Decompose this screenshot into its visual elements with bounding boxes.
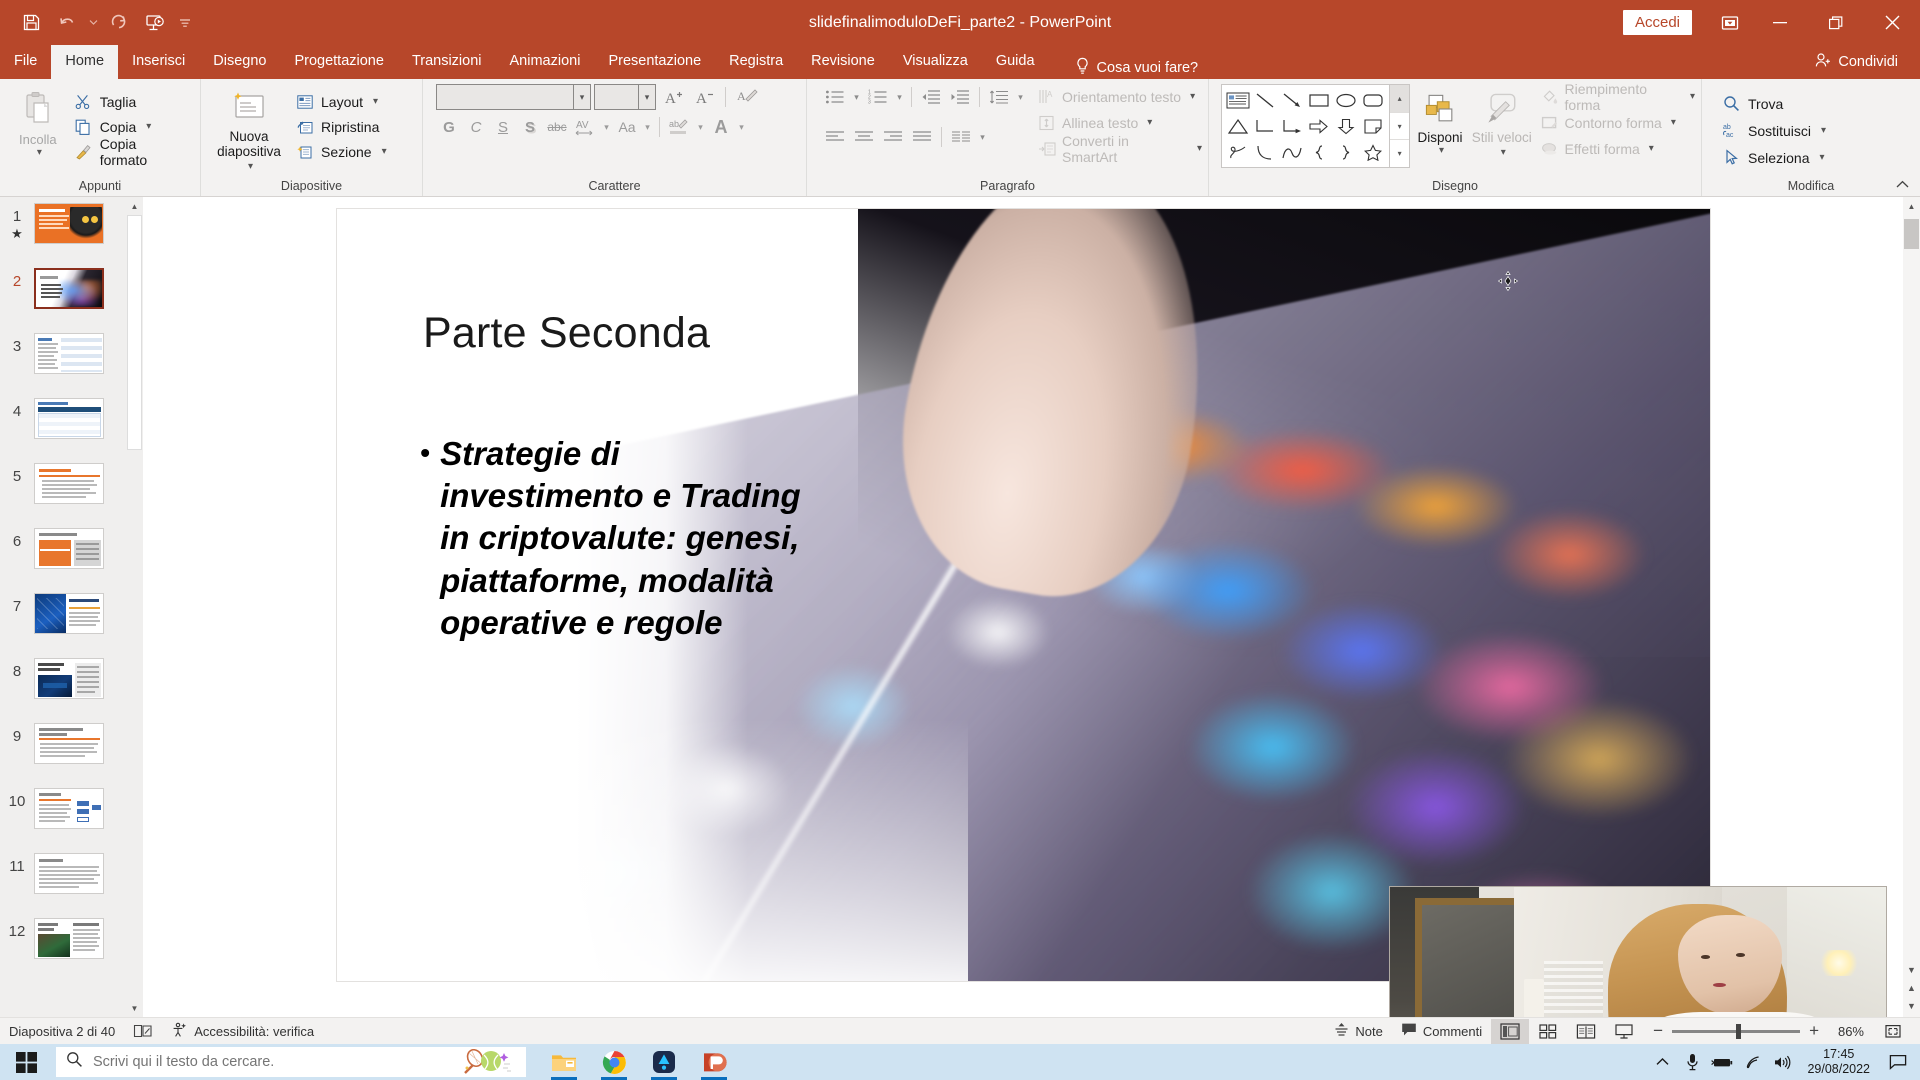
- thumbnail-scrollbar[interactable]: ▲ ▼: [126, 197, 143, 1017]
- reset-button[interactable]: Ripristina: [291, 114, 394, 139]
- align-center-button[interactable]: [850, 124, 878, 150]
- ribbon-group-drawing: ▴ ▾ ▾ Disponi ▾ Stili veloc: [1208, 79, 1701, 196]
- shape-star-icon[interactable]: [1360, 139, 1387, 165]
- thumbnail-slide-6[interactable]: 6: [0, 528, 143, 593]
- ribbon-display-options-icon[interactable]: [1708, 6, 1752, 40]
- sign-in-button[interactable]: Accedi: [1623, 10, 1692, 35]
- shape-oval-icon[interactable]: [1333, 87, 1360, 113]
- thumbnail-list: 1 ★ 2: [0, 203, 143, 983]
- thumbnail-slide-9[interactable]: 9: [0, 723, 143, 788]
- section-label: Sezione: [321, 144, 372, 160]
- volume-icon[interactable]: [1767, 1044, 1797, 1080]
- layout-dropdown-icon[interactable]: ▾: [373, 96, 378, 107]
- tab-revisione[interactable]: Revisione: [797, 45, 889, 79]
- italic-button[interactable]: C: [463, 114, 489, 140]
- thumbnail-image-3: [34, 333, 104, 374]
- svg-text:ac: ac: [1726, 132, 1734, 139]
- replace-icon: abac: [1722, 121, 1741, 140]
- share-button[interactable]: Condividi: [1815, 45, 1920, 79]
- paste-dropdown-icon[interactable]: ▾: [37, 147, 42, 158]
- underline-button[interactable]: S: [490, 114, 516, 140]
- align-right-button[interactable]: [879, 124, 907, 150]
- clock-time: 17:45: [1807, 1047, 1870, 1062]
- thumbnail-number-5: 5: [0, 463, 34, 485]
- columns-dropdown-icon[interactable]: ▾: [976, 124, 989, 150]
- slide-thumbnail-pane[interactable]: 1 ★ 2: [0, 197, 143, 1017]
- replace-dropdown-icon[interactable]: ▾: [1821, 125, 1826, 136]
- align-text-icon: [1037, 113, 1056, 132]
- tell-me-box[interactable]: Cosa vuoi fare?: [1049, 57, 1199, 79]
- thumbnail-slide-5[interactable]: 5: [0, 463, 143, 528]
- text-shadow-button[interactable]: S: [517, 114, 543, 140]
- font-name-input[interactable]: ▾: [436, 84, 591, 110]
- windows-taskbar: 17:45 29/08/2022: [0, 1044, 1920, 1080]
- find-button[interactable]: Trova: [1716, 90, 1832, 117]
- shape-arc-icon[interactable]: [1251, 139, 1278, 165]
- arrange-label: Disponi: [1417, 130, 1462, 145]
- increase-indent-button[interactable]: [946, 84, 974, 110]
- bullets-button[interactable]: [821, 84, 849, 110]
- thumbnail-number-12: 12: [0, 918, 34, 940]
- thumbnail-image-6: [34, 528, 104, 569]
- start-presentation-icon[interactable]: [138, 6, 172, 40]
- zoom-level-label[interactable]: 86%: [1828, 1024, 1864, 1039]
- tab-file[interactable]: File: [0, 45, 51, 79]
- file-explorer-icon[interactable]: [542, 1044, 586, 1080]
- bullets-dropdown-icon[interactable]: ▾: [850, 84, 863, 110]
- decrease-font-size-button[interactable]: A: [690, 84, 718, 110]
- accessibility-icon: [171, 1022, 188, 1041]
- slide-scroll-up-icon[interactable]: ▲: [1903, 197, 1920, 215]
- show-hidden-icons-icon[interactable]: [1647, 1044, 1677, 1080]
- smartart-label: Converti in SmartArt: [1062, 133, 1188, 165]
- scissors-icon: [74, 92, 93, 111]
- thumbnail-image-4: [34, 398, 104, 439]
- ribbon-group-font: ▾ ▾ A A A: [422, 79, 806, 196]
- copy-icon: [74, 117, 93, 136]
- new-slide-button[interactable]: Nuova diapositiva ▾: [207, 84, 291, 174]
- taskbar-clock[interactable]: 17:45 29/08/2022: [1797, 1047, 1880, 1077]
- arrange-dropdown-icon[interactable]: ▾: [1439, 145, 1444, 156]
- svg-text:A: A: [696, 91, 707, 107]
- numbering-button[interactable]: 123: [864, 84, 892, 110]
- language-icon[interactable]: [124, 1018, 162, 1045]
- thumbnail-scroll-handle[interactable]: [127, 215, 142, 450]
- slide-sorter-view-button[interactable]: [1529, 1019, 1567, 1044]
- bold-button[interactable]: G: [436, 114, 462, 140]
- replace-label: Sostituisci: [1748, 123, 1811, 139]
- columns-button[interactable]: [947, 124, 975, 150]
- current-slide[interactable]: Parte Seconda • Strategie di investiment…: [337, 209, 1710, 981]
- action-center-icon[interactable]: [1880, 1044, 1916, 1080]
- undo-icon[interactable]: [50, 6, 84, 40]
- undo-dropdown-icon[interactable]: [86, 6, 100, 40]
- character-spacing-dropdown-icon[interactable]: ▾: [600, 114, 613, 140]
- thumbnail-slide-11[interactable]: 11: [0, 853, 143, 918]
- svg-text:A: A: [737, 89, 746, 103]
- thumbnail-image-12: [34, 918, 104, 959]
- cut-label: Taglia: [100, 94, 137, 110]
- line-spacing-dropdown-icon[interactable]: ▾: [1014, 84, 1027, 110]
- font-group-label: Carattere: [423, 177, 806, 196]
- drawing-group-label: Disegno: [1209, 177, 1701, 196]
- title-bar: slidefinalimoduloDeFi_parte2 - PowerPoin…: [0, 0, 1920, 45]
- shape-scribble-icon[interactable]: [1224, 139, 1251, 165]
- shape-line-icon[interactable]: [1251, 87, 1278, 113]
- format-painter-button[interactable]: Copia formato: [70, 139, 194, 164]
- shape-effects-icon: [1540, 139, 1559, 158]
- svg-text:AV: AV: [576, 120, 589, 131]
- thumbnail-slide-7[interactable]: 7: [0, 593, 143, 658]
- layout-label: Layout: [321, 94, 363, 110]
- ribbon-group-editing: Trova abac Sostituisci ▾ Seleziona: [1701, 79, 1920, 196]
- battery-icon[interactable]: [1707, 1044, 1737, 1080]
- layout-icon: [295, 92, 314, 111]
- start-button[interactable]: [0, 1044, 52, 1080]
- quick-styles-icon: [1482, 88, 1522, 130]
- text-direction-label: Orientamento testo: [1062, 89, 1181, 105]
- tab-progettazione[interactable]: Progettazione: [280, 45, 397, 79]
- thumbnail-slide-4[interactable]: 4: [0, 398, 143, 463]
- previous-slide-icon[interactable]: ▲: [1903, 979, 1920, 997]
- search-illustration-icon: [460, 1049, 518, 1080]
- powerpoint-window: slidefinalimoduloDeFi_parte2 - PowerPoin…: [0, 0, 1920, 1080]
- accessibility-label: Accessibilità: verifica: [194, 1024, 314, 1039]
- paste-icon: [18, 88, 58, 130]
- quick-styles-label: Stili veloci: [1472, 130, 1532, 145]
- shape-outline-icon: [1540, 113, 1559, 132]
- align-text-label: Allinea testo: [1062, 115, 1138, 131]
- thumbnail-image-7: [34, 593, 104, 634]
- select-label: Seleziona: [1748, 150, 1810, 166]
- shapes-gallery-more-icon[interactable]: ▾: [1390, 139, 1409, 167]
- increase-font-size-button[interactable]: A: [659, 84, 687, 110]
- bullet-marker: •: [420, 433, 430, 644]
- quick-styles-dropdown-icon[interactable]: ▾: [1501, 145, 1506, 160]
- section-button[interactable]: Sezione ▾: [291, 139, 394, 164]
- animation-star-icon: ★: [0, 225, 34, 242]
- comments-label: Commenti: [1423, 1024, 1482, 1039]
- search-icon: [1722, 94, 1741, 113]
- shape-fill-dropdown-icon[interactable]: ▾: [1690, 91, 1695, 102]
- tab-guida[interactable]: Guida: [982, 45, 1049, 79]
- arrange-button[interactable]: Disponi ▾: [1410, 84, 1470, 156]
- shapes-gallery-scroll[interactable]: ▴ ▾ ▾: [1389, 85, 1409, 167]
- slide-vertical-scrollbar[interactable]: ▲ ▼ ▲ ▼: [1903, 197, 1920, 1017]
- ribbon-group-slides: Nuova diapositiva ▾ Layout ▾: [200, 79, 422, 196]
- search-icon: [66, 1051, 83, 1073]
- select-button[interactable]: Seleziona ▾: [1716, 144, 1832, 171]
- thumbnail-number-8: 8: [0, 658, 34, 680]
- thumbnail-scroll-up-icon[interactable]: ▲: [126, 197, 143, 215]
- section-icon: [295, 142, 314, 161]
- microphone-icon[interactable]: [1677, 1044, 1707, 1080]
- customize-qat-icon[interactable]: [174, 6, 196, 40]
- reading-view-button[interactable]: [1567, 1019, 1605, 1044]
- thumbnail-image-2: [34, 268, 104, 309]
- shape-fill-label: Riempimento forma: [1565, 81, 1681, 113]
- close-button[interactable]: [1864, 0, 1920, 45]
- align-text-button[interactable]: Allinea testo ▾: [1037, 110, 1202, 135]
- title-bar-right: Accedi: [1623, 0, 1920, 45]
- shape-elbow-connector-icon[interactable]: [1251, 113, 1278, 139]
- fit-to-window-button[interactable]: [1874, 1019, 1912, 1044]
- restore-button[interactable]: [1808, 0, 1864, 45]
- font-color-dropdown-icon[interactable]: ▾: [735, 114, 748, 140]
- thumbnail-image-11: [34, 853, 104, 894]
- shape-down-arrow-icon[interactable]: [1333, 113, 1360, 139]
- svg-text:A: A: [665, 91, 676, 107]
- thumbnail-number-9: 9: [0, 723, 34, 745]
- justify-button[interactable]: [908, 124, 936, 150]
- format-painter-icon: [74, 142, 93, 161]
- shapes-scroll-down-icon[interactable]: ▾: [1390, 112, 1409, 140]
- thumbnail-slide-1[interactable]: 1 ★: [0, 203, 143, 268]
- layout-button[interactable]: Layout ▾: [291, 89, 394, 114]
- new-slide-label: Nuova diapositiva: [207, 129, 291, 159]
- change-case-dropdown-icon[interactable]: ▾: [641, 114, 654, 140]
- shape-rounded-rectangle-icon[interactable]: [1360, 87, 1387, 113]
- thumbnail-image-10: [34, 788, 104, 829]
- select-icon: [1722, 148, 1741, 167]
- format-painter-label: Copia formato: [100, 136, 187, 168]
- ribbon: Incolla ▾ Taglia Copia: [0, 79, 1920, 197]
- new-slide-icon: [229, 87, 269, 129]
- share-person-icon: [1815, 52, 1832, 72]
- wifi-icon[interactable]: [1737, 1044, 1767, 1080]
- copy-label: Copia: [100, 119, 137, 135]
- section-dropdown-icon[interactable]: ▾: [382, 146, 387, 157]
- next-slide-icon[interactable]: ▼: [1903, 997, 1920, 1015]
- shape-arrow-icon[interactable]: [1278, 87, 1305, 113]
- powerpoint-icon[interactable]: [692, 1044, 736, 1080]
- system-tray: 17:45 29/08/2022: [1647, 1044, 1920, 1080]
- paste-label: Incolla: [19, 132, 57, 147]
- save-icon[interactable]: [14, 6, 48, 40]
- redo-icon[interactable]: [102, 6, 136, 40]
- svg-text:A: A: [1047, 90, 1053, 99]
- thumbnail-image-5: [34, 463, 104, 504]
- align-text-dropdown-icon[interactable]: ▾: [1147, 117, 1152, 128]
- find-label: Trova: [1748, 96, 1783, 112]
- text-direction-icon: A: [1037, 87, 1056, 106]
- svg-text:ab: ab: [669, 119, 679, 129]
- paragraph-group-label: Paragrafo: [807, 177, 1208, 196]
- tab-inserisci[interactable]: Inserisci: [118, 45, 199, 79]
- shape-outline-button[interactable]: Contorno forma ▾: [1540, 110, 1695, 135]
- thumbnail-slide-10[interactable]: 10: [0, 788, 143, 853]
- shape-right-brace-icon[interactable]: [1333, 139, 1360, 165]
- cut-button[interactable]: Taglia: [70, 89, 194, 114]
- new-slide-dropdown-icon[interactable]: ▾: [248, 159, 253, 174]
- minimize-button[interactable]: [1752, 0, 1808, 45]
- thumbnail-image-9: [34, 723, 104, 764]
- tab-registra[interactable]: Registra: [715, 45, 797, 79]
- font-size-dropdown-icon[interactable]: ▾: [638, 85, 655, 109]
- collapse-ribbon-icon[interactable]: [1892, 175, 1912, 193]
- shape-outline-label: Contorno forma: [1565, 115, 1662, 131]
- thumbnail-number-6: 6: [0, 528, 34, 550]
- shape-curve-icon[interactable]: [1278, 139, 1305, 165]
- thumbnail-number-7: 7: [0, 593, 34, 615]
- reset-icon: [295, 117, 314, 136]
- zoom-in-button[interactable]: +: [1809, 1021, 1819, 1041]
- normal-view-button[interactable]: [1491, 1019, 1529, 1044]
- quick-styles-button[interactable]: Stili veloci ▾: [1470, 84, 1534, 160]
- smartart-dropdown-icon[interactable]: ▾: [1197, 143, 1202, 154]
- comment-icon: [1401, 1022, 1417, 1040]
- select-dropdown-icon[interactable]: ▾: [1820, 152, 1825, 163]
- thumbnail-number-11: 11: [0, 853, 34, 875]
- zoom-track[interactable]: [1672, 1030, 1800, 1033]
- thumbnail-number-2: 2: [0, 268, 34, 290]
- thumbnail-scroll-down-icon[interactable]: ▼: [126, 999, 143, 1017]
- ribbon-tabs: File Home Inserisci Disegno Progettazion…: [0, 45, 1920, 79]
- thumbnail-image-1: [34, 203, 104, 244]
- shape-right-arrow-icon[interactable]: [1306, 113, 1333, 139]
- text-direction-button[interactable]: A Orientamento testo ▾: [1037, 84, 1202, 109]
- thumbnail-slide-12[interactable]: 12: [0, 918, 143, 983]
- shape-elbow-arrow-icon[interactable]: [1278, 113, 1305, 139]
- shapes-gallery[interactable]: ▴ ▾ ▾: [1221, 84, 1410, 168]
- thumbnail-image-8: [34, 658, 104, 699]
- status-bar: Diapositiva 2 di 40 Accessibilità: verif…: [0, 1017, 1920, 1044]
- tab-home[interactable]: Home: [51, 45, 118, 79]
- shape-folded-corner-icon[interactable]: [1360, 113, 1387, 139]
- taskbar-search[interactable]: [56, 1047, 526, 1077]
- cisco-webex-icon[interactable]: [642, 1044, 686, 1080]
- comments-button[interactable]: Commenti: [1392, 1018, 1491, 1045]
- text-highlight-button[interactable]: ab: [665, 114, 693, 140]
- ribbon-group-clipboard: Incolla ▾ Taglia Copia: [0, 79, 200, 196]
- share-label: Condividi: [1838, 54, 1898, 70]
- arrange-icon: [1420, 88, 1460, 130]
- font-name-dropdown-icon[interactable]: ▾: [573, 85, 590, 109]
- slideshow-view-button[interactable]: [1605, 1019, 1643, 1044]
- thumbnail-slide-8[interactable]: 8: [0, 658, 143, 723]
- tab-transizioni[interactable]: Transizioni: [398, 45, 496, 79]
- thumbnail-scroll-track[interactable]: [126, 215, 143, 999]
- thumbnail-slide-2[interactable]: 2: [0, 268, 143, 333]
- slide-counter[interactable]: Diapositiva 2 di 40: [0, 1018, 124, 1045]
- notes-button[interactable]: Note: [1325, 1018, 1391, 1045]
- svg-text:ab: ab: [1723, 124, 1731, 131]
- thumbnail-number-10: 10: [0, 788, 34, 810]
- slide-scroll-handle[interactable]: [1904, 219, 1919, 249]
- search-input[interactable]: [93, 1054, 516, 1070]
- zoom-slider[interactable]: − + 86%: [1643, 1021, 1874, 1041]
- quick-access-toolbar: [0, 6, 196, 40]
- clear-formatting-button[interactable]: A: [733, 84, 761, 110]
- shape-effects-button[interactable]: Effetti forma ▾: [1540, 136, 1695, 161]
- shape-fill-button[interactable]: Riempimento forma ▾: [1540, 84, 1695, 109]
- slide-body-placeholder[interactable]: • Strategie di investimento e Trading in…: [420, 433, 832, 644]
- tab-animazioni[interactable]: Animazioni: [496, 45, 595, 79]
- editing-group-label: Modifica: [1702, 177, 1920, 196]
- status-bar-right: Note Commenti −: [1325, 1018, 1920, 1045]
- slide-body-text: Strategie di investimento e Trading in c…: [440, 433, 832, 644]
- shape-effects-label: Effetti forma: [1565, 141, 1640, 157]
- lightbulb-icon: [1075, 57, 1090, 79]
- text-direction-dropdown-icon[interactable]: ▾: [1190, 91, 1195, 102]
- thumbnail-number-1: 1 ★: [0, 203, 34, 242]
- line-spacing-button[interactable]: [985, 84, 1013, 110]
- accessibility-checker[interactable]: Accessibilità: verifica: [162, 1018, 323, 1045]
- shape-effects-dropdown-icon[interactable]: ▾: [1649, 143, 1654, 154]
- shape-textbox-icon[interactable]: [1224, 87, 1251, 113]
- slides-group-label: Diapositive: [201, 177, 422, 196]
- strikethrough-button[interactable]: abc: [544, 114, 570, 140]
- shape-triangle-icon[interactable]: [1224, 113, 1251, 139]
- decrease-indent-button[interactable]: [917, 84, 945, 110]
- thumbnail-number-3: 3: [0, 333, 34, 355]
- tab-visualizza[interactable]: Visualizza: [889, 45, 982, 79]
- work-area: 1 ★ 2: [0, 197, 1920, 1017]
- notes-label: Note: [1355, 1024, 1382, 1039]
- text-highlight-dropdown-icon[interactable]: ▾: [694, 114, 707, 140]
- shape-fill-icon: [1540, 87, 1559, 106]
- notes-icon: [1334, 1022, 1349, 1040]
- convert-to-smartart-button[interactable]: Converti in SmartArt ▾: [1037, 136, 1202, 161]
- ribbon-group-paragraph: ▾ 123 ▾: [806, 79, 1208, 196]
- numbering-dropdown-icon[interactable]: ▾: [893, 84, 906, 110]
- tab-disegno[interactable]: Disegno: [199, 45, 280, 79]
- google-chrome-icon[interactable]: [592, 1044, 636, 1080]
- slide-scroll-down-icon[interactable]: ▼: [1903, 961, 1920, 979]
- change-case-button[interactable]: Aa: [614, 114, 640, 140]
- shape-outline-dropdown-icon[interactable]: ▾: [1671, 117, 1676, 128]
- taskbar-apps: [542, 1044, 736, 1080]
- zoom-out-button[interactable]: −: [1653, 1021, 1663, 1041]
- shape-rectangle-icon[interactable]: [1306, 87, 1333, 113]
- shape-left-brace-icon[interactable]: [1306, 139, 1333, 165]
- thumbnail-number-4: 4: [0, 398, 34, 420]
- replace-button[interactable]: abac Sostituisci ▾: [1716, 117, 1832, 144]
- paste-button[interactable]: Incolla ▾: [6, 84, 70, 158]
- character-spacing-button[interactable]: AV: [571, 114, 599, 140]
- smartart-icon: [1037, 139, 1056, 158]
- font-size-input[interactable]: ▾: [594, 84, 656, 110]
- slide-counter-label: Diapositiva 2 di 40: [9, 1024, 115, 1039]
- svg-text:3: 3: [868, 100, 871, 105]
- clock-date: 29/08/2022: [1807, 1062, 1870, 1077]
- reset-label: Ripristina: [321, 119, 379, 135]
- tab-presentazione[interactable]: Presentazione: [594, 45, 715, 79]
- copy-dropdown-icon[interactable]: ▾: [146, 121, 151, 132]
- zoom-handle[interactable]: [1736, 1024, 1741, 1039]
- thumbnail-slide-3[interactable]: 3: [0, 333, 143, 398]
- shapes-scroll-up-icon[interactable]: ▴: [1390, 85, 1409, 112]
- tell-me-label: Cosa vuoi fare?: [1097, 60, 1199, 76]
- clipboard-group-label: Appunti: [0, 177, 200, 196]
- slide-title-text[interactable]: Parte Seconda: [423, 309, 710, 358]
- font-color-button[interactable]: A: [708, 114, 734, 140]
- align-left-button[interactable]: [821, 124, 849, 150]
